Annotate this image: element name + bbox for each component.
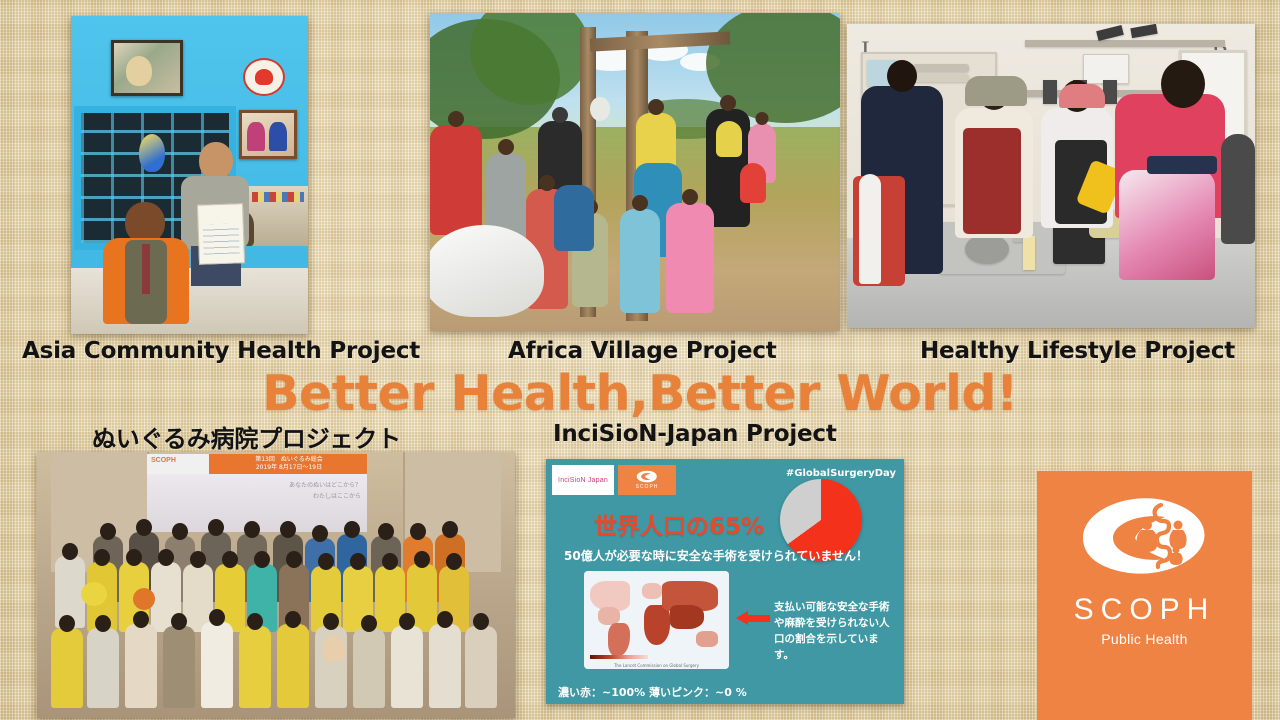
hanging-rack <box>1025 40 1225 47</box>
books <box>252 192 304 202</box>
photo-africa-village <box>430 13 840 331</box>
colander <box>965 234 1009 264</box>
flat-cap <box>965 76 1027 106</box>
group-person <box>465 626 497 708</box>
photo-healthy-content: I B <box>847 24 1255 328</box>
projection-screen: 第13回 ぬいぐるみ総会2019年 8月17日～19日 SCOPH あなたのぬい… <box>147 454 367 532</box>
wall-emblem <box>243 58 285 96</box>
group-person <box>87 628 119 708</box>
apron-strap <box>859 174 881 284</box>
scoph-leaf-icon <box>636 470 658 483</box>
map-annotation: 支払い可能な安全な手術や麻酔を受けられない人口の割合を示しています。 <box>774 599 896 663</box>
caption-asia-community-health: Asia Community Health Project <box>22 338 420 364</box>
group-person <box>391 626 423 708</box>
weighing-scale <box>590 97 610 121</box>
prop-sun <box>133 588 155 610</box>
caption-africa-village: Africa Village Project <box>508 338 777 364</box>
photo-teddy-bear-hospital-group: 第13回 ぬいぐるみ総会2019年 8月17日～19日 SCOPH あなたのぬい… <box>37 452 515 718</box>
incision-logo-text: InciSioN Japan <box>558 477 608 484</box>
person-edge <box>1221 134 1255 244</box>
person <box>430 125 482 235</box>
scoph-logo-small: SCOPH <box>618 465 676 495</box>
map-color-legend <box>590 655 648 659</box>
scoph-tagline: Public Health <box>1037 631 1252 647</box>
pink-bandana <box>1059 84 1105 108</box>
apron-floral <box>1119 170 1215 280</box>
map-region-europe <box>642 583 662 599</box>
caption-healthy-lifestyle: Healthy Lifestyle Project <box>920 338 1235 364</box>
hanging-balloon <box>139 134 165 172</box>
infographic-global-surgery: InciSioN Japan SCOPH #GlobalSurgeryDay 世… <box>546 459 904 704</box>
incision-logo: InciSioN Japan <box>552 465 614 495</box>
stacked-plates <box>913 64 969 72</box>
teddy-bear <box>323 636 345 662</box>
group-person <box>125 624 157 708</box>
group-person <box>277 624 309 708</box>
group-person <box>239 626 271 708</box>
slide-body-text: あなたのぬいはどこから？わたしはここから <box>157 480 361 502</box>
statistic-prefix: 世界人口の <box>594 514 709 540</box>
photo-healthy-lifestyle: I B <box>847 24 1255 328</box>
map-scale-caption: 濃い赤：~100% 薄いピンク：~0 % <box>558 684 747 700</box>
group-person <box>429 624 461 708</box>
certificate <box>197 203 245 265</box>
statistic-subline: 50億人が必要な時に安全な手術を受けられていません！ <box>564 547 894 564</box>
group-person <box>51 628 83 708</box>
world-map-choropleth: The Lancet Commission on Global Surgery <box>584 571 729 669</box>
slide-title: 第13回 ぬいぐるみ総会2019年 8月17日～19日 <box>213 456 365 472</box>
scoph-logo-small-text: SCOPH <box>636 484 659 490</box>
apron-tie-navy <box>1147 156 1217 174</box>
statistic-headline: 世界人口の65% <box>594 507 764 541</box>
map-credit: The Lancet Commission on Global Surgery <box>584 663 729 668</box>
faucet <box>1043 80 1057 104</box>
caption-teddy-bear-hospital: ぬいぐるみ病院プロジェクト <box>92 419 401 454</box>
caption-incision-japan: InciSioN-Japan Project <box>553 421 837 447</box>
scoph-leaf-icon <box>1079 497 1211 579</box>
prop-disc <box>81 582 107 606</box>
scoph-logo-block: SCOPH Public Health <box>1037 471 1252 720</box>
child <box>620 209 660 313</box>
white-sack <box>430 225 544 317</box>
photo-asia-content <box>71 16 308 334</box>
child <box>666 203 714 313</box>
map-region-africa <box>644 605 670 645</box>
scoph-wordmark: SCOPH <box>1037 593 1252 627</box>
wall-picture-deity <box>111 40 183 96</box>
statistic-value: 65% <box>709 514 764 540</box>
child <box>554 185 594 251</box>
slide-logo-scoph: SCOPH <box>151 457 176 464</box>
group-person <box>353 628 385 708</box>
hashtag-global-surgery-day: #GlobalSurgeryDay <box>786 468 896 479</box>
page-title: Better Health,Better World! <box>0 365 1280 422</box>
map-region-australia <box>696 631 718 647</box>
photo-asia-community-health <box>71 16 308 334</box>
group-person <box>201 622 233 708</box>
bag <box>740 163 766 203</box>
photo-africa-content <box>430 13 840 331</box>
slide-canvas: I B <box>0 0 1280 720</box>
butter-block <box>1023 236 1035 270</box>
photo-teddy-content: 第13回 ぬいぐるみ総会2019年 8月17日～19日 SCOPH あなたのぬい… <box>37 452 515 718</box>
group-person <box>163 626 195 708</box>
stacked-plates <box>913 74 969 82</box>
person-shirt-detail <box>716 121 742 157</box>
faucet <box>1103 80 1117 104</box>
pointer-arrow-icon <box>736 611 770 625</box>
apron-maroon <box>963 128 1021 234</box>
person-seated <box>103 202 189 320</box>
map-region-south-asia <box>670 605 704 629</box>
